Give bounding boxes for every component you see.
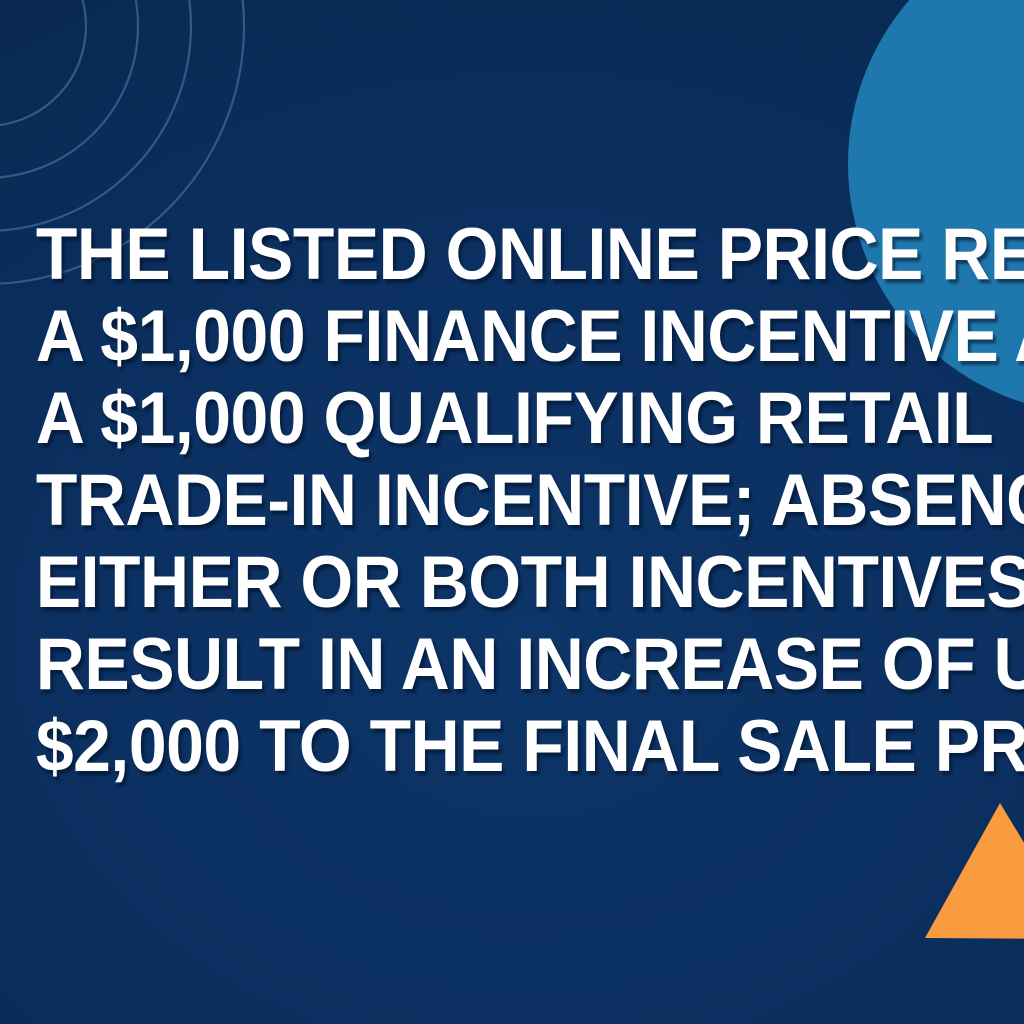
arc-ring-2	[0, 0, 138, 178]
triangle-shape	[925, 803, 1024, 939]
arc-ring-1	[0, 0, 86, 126]
disclaimer-graphic: THE LISTED ONLINE PRICE REFLECTS A $1,00…	[0, 0, 1024, 1024]
headline-line-7: $2,000 TO THE FINAL SALE PRICE.	[36, 706, 988, 788]
disclaimer-headline: THE LISTED ONLINE PRICE REFLECTS A $1,00…	[36, 214, 988, 788]
headline-line-3: A $1,000 QUALIFYING RETAIL	[36, 378, 988, 460]
headline-line-6: RESULT IN AN INCREASE OF UP TO	[36, 624, 988, 706]
orange-triangle-decoration	[922, 800, 1024, 939]
arc-ring-3	[0, 0, 191, 231]
headline-line-4: TRADE-IN INCENTIVE; ABSENCE OF	[36, 460, 988, 542]
headline-line-5: EITHER OR BOTH INCENTIVES WILL	[36, 542, 988, 624]
headline-line-2: A $1,000 FINANCE INCENTIVE AND	[36, 296, 988, 378]
headline-line-1: THE LISTED ONLINE PRICE REFLECTS	[36, 214, 988, 296]
